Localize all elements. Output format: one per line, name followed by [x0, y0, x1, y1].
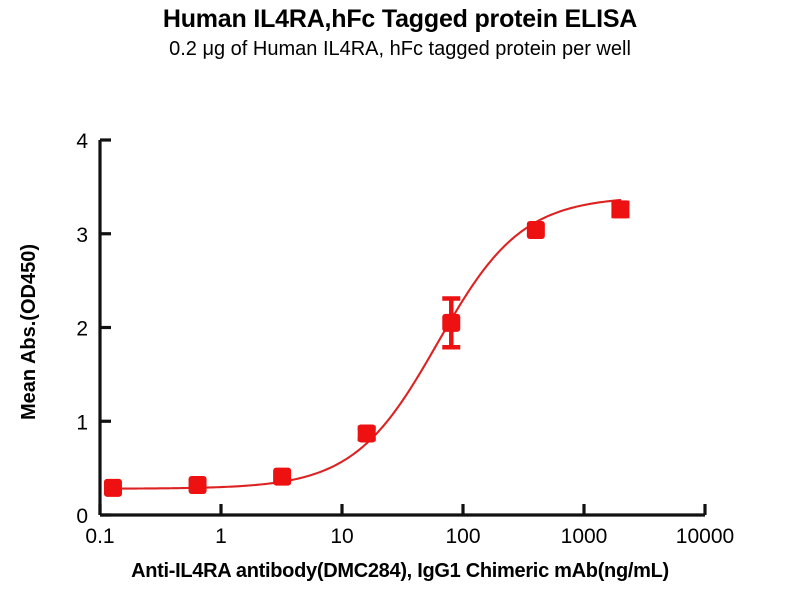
svg-text:2: 2: [76, 318, 88, 341]
svg-text:1: 1: [215, 525, 227, 548]
y-axis-ticks: 01234: [76, 130, 111, 528]
x-axis-ticks: 0.1110100100010000: [85, 504, 734, 548]
fit-curve: [113, 200, 620, 489]
svg-text:0: 0: [76, 505, 88, 528]
error-bars: [358, 203, 630, 439]
svg-text:10: 10: [330, 525, 353, 548]
data-points: [104, 201, 628, 496]
elisa-chart-figure: Human IL4RA,hFc Tagged protein ELISA 0.2…: [0, 0, 800, 600]
plot-area: 0.1110100100010000 01234: [0, 0, 800, 600]
svg-text:1000: 1000: [561, 525, 608, 548]
svg-text:4: 4: [76, 130, 88, 153]
svg-text:10000: 10000: [676, 525, 734, 548]
axes: [100, 140, 705, 515]
svg-text:3: 3: [76, 224, 88, 247]
svg-text:1: 1: [76, 411, 88, 434]
svg-text:100: 100: [445, 525, 480, 548]
svg-text:0.1: 0.1: [85, 525, 114, 548]
